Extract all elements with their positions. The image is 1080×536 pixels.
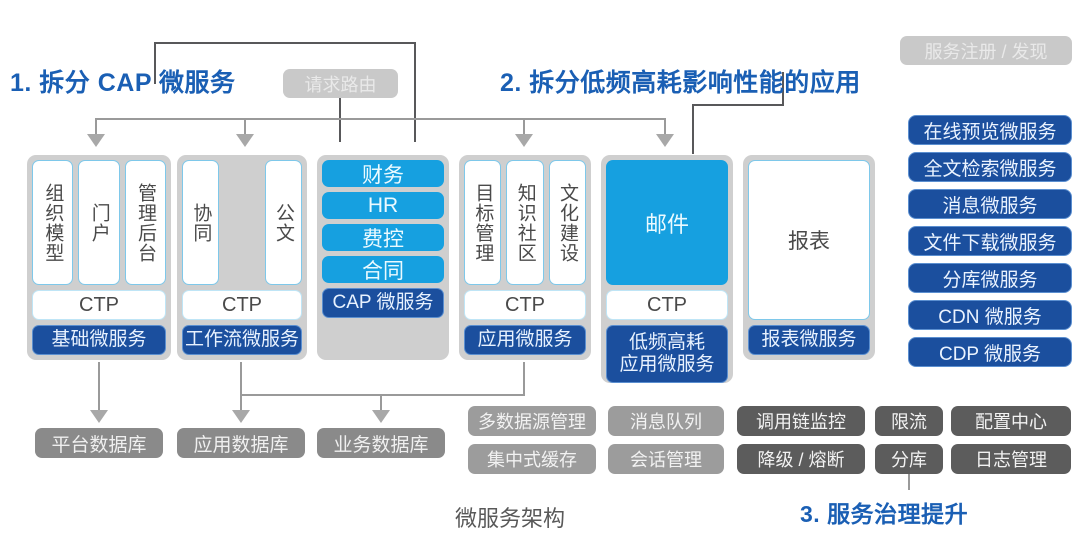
app-card[interactable]: 文化建设 (549, 160, 586, 285)
architecture-caption: 微服务架构 (455, 501, 565, 533)
database-business[interactable]: 业务数据库 (317, 428, 445, 458)
app-card-empty (224, 160, 259, 285)
connector-business-db-bus (240, 394, 525, 396)
arrow-to-platform-db (90, 410, 108, 423)
microservice-line-2: 应用微服务 (619, 354, 714, 375)
app-card[interactable]: 费控 (322, 224, 444, 251)
arrow-to-workflow-column (236, 134, 254, 147)
governance-tag-rate-limit[interactable]: 限流 (875, 406, 943, 436)
service-item-cdp[interactable]: CDP 微服务 (908, 337, 1072, 367)
service-registry-badge: 服务注册 / 发现 (900, 36, 1072, 65)
request-routing-badge: 请求路由 (283, 69, 398, 98)
app-card[interactable]: 门户 (78, 160, 119, 285)
connector-fanout-bus (95, 118, 665, 120)
infra-tag-session-management[interactable]: 会话管理 (608, 444, 724, 474)
service-item-fulltext-search[interactable]: 全文检索微服务 (908, 152, 1072, 182)
app-card[interactable]: 组织模型 (32, 160, 73, 285)
service-item-online-preview[interactable]: 在线预览微服务 (908, 115, 1072, 145)
diagram-canvas: 1. 拆分 CAP 微服务 2. 拆分低频高耗影响性能的应用 3. 服务治理提升… (0, 0, 1080, 536)
microservice-label: 报表微服务 (748, 325, 870, 355)
connector-step2-horizontal (692, 104, 784, 106)
ctp-layer: CTP (464, 290, 586, 320)
governance-tag-log-management[interactable]: 日志管理 (951, 444, 1071, 474)
app-card[interactable]: 报表 (748, 160, 870, 320)
column-base[interactable]: 组织模型 门户 管理后台 CTP 基础微服务 (27, 155, 171, 360)
infra-tag-message-queue[interactable]: 消息队列 (608, 406, 724, 436)
connector-workflow-down (240, 362, 242, 412)
arrow-to-application-column (515, 134, 533, 147)
microservice-line-1: 低频高耗 (629, 332, 705, 353)
ctp-layer: CTP (606, 290, 728, 320)
microservice-label: 应用微服务 (464, 325, 586, 355)
step-1-title: 1. 拆分 CAP 微服务 (10, 63, 236, 99)
step-3-title: 3. 服务治理提升 (800, 495, 968, 529)
column-cap[interactable]: 财务 HR 费控 合同 CAP 微服务 (317, 155, 449, 360)
connector-route-pill-stem (339, 98, 341, 142)
ctp-layer: CTP (32, 290, 166, 320)
column-mail[interactable]: 邮件 CTP 低频高耗 应用微服务 (601, 155, 733, 383)
connector-application-down (523, 362, 525, 395)
arrow-to-mail-column (656, 134, 674, 147)
arrow-to-business-db (372, 410, 390, 423)
governance-tag-degrade-circuit[interactable]: 降级 / 熔断 (737, 444, 865, 474)
column-report[interactable]: 报表 报表微服务 (743, 155, 875, 360)
ctp-layer: CTP (182, 290, 302, 320)
service-item-message[interactable]: 消息微服务 (908, 189, 1072, 219)
database-application[interactable]: 应用数据库 (177, 428, 305, 458)
app-card[interactable]: 知识社区 (506, 160, 543, 285)
step-2-title: 2. 拆分低频高耗影响性能的应用 (500, 63, 861, 99)
infra-tag-multi-datasource[interactable]: 多数据源管理 (468, 406, 596, 436)
database-platform[interactable]: 平台数据库 (35, 428, 163, 458)
governance-tag-config-center[interactable]: 配置中心 (951, 406, 1071, 436)
governance-tag-tracing[interactable]: 调用链监控 (737, 406, 865, 436)
column-workflow[interactable]: 协同 公文 CTP 工作流微服务 (177, 155, 307, 360)
app-card[interactable]: 公文 (265, 160, 302, 285)
app-card[interactable]: 目标管理 (464, 160, 501, 285)
connector-governance-stem (908, 474, 910, 490)
column-application[interactable]: 目标管理 知识社区 文化建设 CTP 应用微服务 (459, 155, 591, 360)
app-card[interactable]: 管理后台 (125, 160, 166, 285)
microservice-label: 基础微服务 (32, 325, 166, 355)
app-card[interactable]: 协同 (182, 160, 219, 285)
governance-tag-sharding[interactable]: 分库 (875, 444, 943, 474)
connector-step2-vertical (692, 104, 694, 154)
app-card[interactable]: 合同 (322, 256, 444, 283)
service-item-cdn[interactable]: CDN 微服务 (908, 300, 1072, 330)
microservice-label: 低频高耗 应用微服务 (606, 325, 728, 383)
app-card[interactable]: 邮件 (606, 160, 728, 285)
service-item-sharding[interactable]: 分库微服务 (908, 263, 1072, 293)
infra-tag-central-cache[interactable]: 集中式缓存 (468, 444, 596, 474)
arrow-to-base-column (87, 134, 105, 147)
connector-base-to-platform-db (98, 362, 100, 412)
connector-route-top-horizontal (154, 42, 416, 44)
app-card[interactable]: 财务 (322, 160, 444, 187)
microservice-label: 工作流微服务 (182, 325, 302, 355)
app-card[interactable]: HR (322, 192, 444, 219)
arrow-to-application-db (232, 410, 250, 423)
microservice-label: CAP 微服务 (322, 288, 444, 318)
connector-route-right-vertical (414, 42, 416, 142)
service-item-file-download[interactable]: 文件下载微服务 (908, 226, 1072, 256)
